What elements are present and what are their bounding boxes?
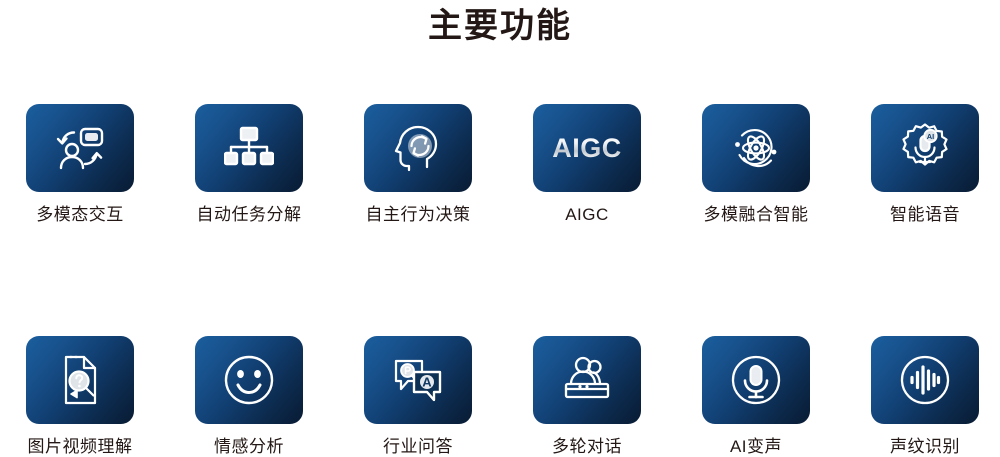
feature-item-voiceprint-recognition[interactable]: 声纹识别	[871, 336, 979, 457]
feature-item-autonomous-decision[interactable]: 自主行为决策	[364, 104, 472, 225]
aigc-text-icon: AIGC	[552, 133, 622, 164]
feature-label: AIGC	[565, 205, 609, 225]
two-people-table-dialogue-icon	[560, 356, 614, 404]
feature-item-sentiment-analysis[interactable]: 情感分析	[195, 336, 303, 457]
document-magnifier-question-icon	[56, 354, 104, 406]
feature-tile[interactable]: AIGC	[533, 104, 641, 192]
feature-label: AI变声	[730, 437, 782, 457]
multimodal-interaction-icon	[54, 124, 106, 172]
feature-row-1: 多模态交互	[26, 104, 976, 225]
feature-grid: 多模态交互	[26, 104, 976, 457]
microphone-circle-icon	[730, 354, 782, 406]
feature-tile[interactable]	[195, 336, 303, 424]
feature-label: 多模融合智能	[704, 205, 809, 225]
feature-item-intelligent-voice[interactable]: AI 智能语音	[871, 104, 979, 225]
feature-label: 智能语音	[890, 205, 960, 225]
qa-speech-bubbles-icon: A	[392, 356, 444, 404]
feature-tile[interactable]	[364, 104, 472, 192]
feature-tile[interactable]	[871, 336, 979, 424]
gear-microphone-ai-icon: AI	[899, 122, 951, 174]
feature-tile[interactable]	[26, 104, 134, 192]
feature-tile[interactable]	[702, 336, 810, 424]
voiceprint-waveform-circle-icon	[899, 354, 951, 406]
feature-tile[interactable]: A	[364, 336, 472, 424]
feature-label: 行业问答	[383, 437, 453, 457]
feature-overview-page: 主要功能	[0, 0, 1000, 447]
feature-row-2: 图片视频理解 情感分析	[26, 336, 976, 457]
feature-tile[interactable]	[533, 336, 641, 424]
feature-label: 自主行为决策	[366, 205, 471, 225]
feature-tile[interactable]	[26, 336, 134, 424]
feature-item-multi-turn-dialogue[interactable]: 多轮对话	[533, 336, 641, 457]
atom-orbit-icon	[730, 123, 782, 173]
task-decomposition-hierarchy-icon	[224, 125, 274, 171]
page-title: 主要功能	[0, 2, 1000, 50]
feature-label: 多模态交互	[36, 205, 124, 225]
svg-text:A: A	[422, 374, 432, 389]
feature-label: 声纹识别	[890, 437, 960, 457]
feature-label: 自动任务分解	[197, 205, 302, 225]
feature-item-multimodal-interaction[interactable]: 多模态交互	[26, 104, 134, 225]
smiley-face-icon	[223, 354, 275, 406]
svg-text:AI: AI	[927, 132, 935, 141]
feature-item-industry-qa[interactable]: A 行业问答	[364, 336, 472, 457]
feature-item-task-decomposition[interactable]: 自动任务分解	[195, 104, 303, 225]
feature-tile[interactable]	[702, 104, 810, 192]
feature-item-aigc[interactable]: AIGC AIGC	[533, 104, 641, 225]
feature-item-ai-voice-change[interactable]: AI变声	[702, 336, 810, 457]
head-refresh-decision-icon	[393, 123, 443, 173]
feature-label: 情感分析	[214, 437, 284, 457]
feature-tile[interactable]	[195, 104, 303, 192]
feature-item-image-video-understanding[interactable]: 图片视频理解	[26, 336, 134, 457]
feature-label: 图片视频理解	[28, 437, 133, 457]
feature-label: 多轮对话	[552, 437, 622, 457]
feature-tile[interactable]: AI	[871, 104, 979, 192]
feature-item-multimodal-fusion[interactable]: 多模融合智能	[702, 104, 810, 225]
